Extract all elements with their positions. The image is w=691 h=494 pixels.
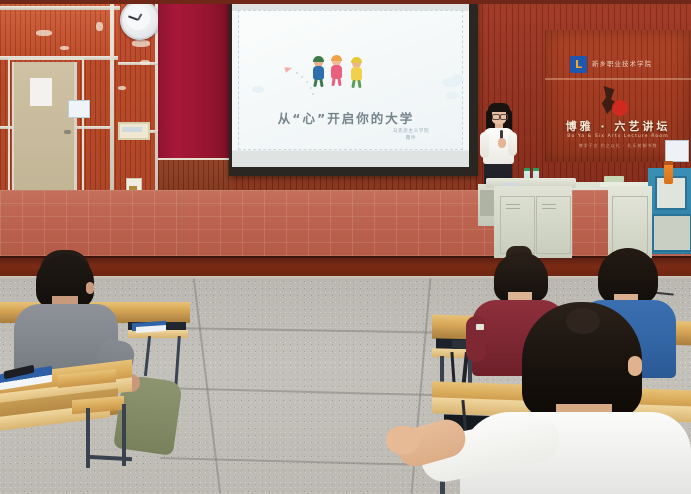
door-sign <box>68 100 90 118</box>
white-cabinet-door[interactable] <box>612 196 648 254</box>
slide-title: 从“心”开启你的大学 <box>246 108 446 127</box>
logo-glyph: L <box>575 59 582 70</box>
equipment-cabinet-lower <box>652 214 691 252</box>
electrical-panel-inner <box>122 127 142 132</box>
red-seal-icon <box>612 100 628 116</box>
student-maroon-arm <box>466 316 486 362</box>
student-left-ear <box>86 282 94 294</box>
stage-tile-pattern <box>0 190 691 262</box>
podium-side-shelf <box>480 190 494 216</box>
podium-vent <box>542 208 556 209</box>
lecture-hall-photo: 从“心”开启你的大学 马克思主义学院 覆件 L 新乡职业技术学院 博雅 · 六艺… <box>0 0 691 494</box>
door-handle[interactable] <box>64 130 71 134</box>
thermos-cap <box>664 161 673 165</box>
ceiling-edge <box>0 0 691 4</box>
presenter-glasses-left <box>492 114 500 120</box>
door-notice-paper <box>30 78 52 106</box>
student-white-hand <box>386 426 420 454</box>
podium-vent <box>542 204 556 205</box>
wall-trim <box>118 62 158 65</box>
podium-vent <box>506 208 520 209</box>
banner-title: 博雅 · 六艺讲坛 <box>552 118 684 134</box>
presenter-glasses-right <box>500 114 508 120</box>
banner-english-title: Bo Ya & Six Arts Lecture Room <box>552 134 684 139</box>
presenter-arm-right <box>508 132 517 156</box>
shirt-logo <box>476 324 484 330</box>
university-logo-icon: L <box>570 56 587 73</box>
podium-vent <box>506 204 520 205</box>
presenter-hand <box>498 138 506 148</box>
crimson-curtain <box>158 0 230 162</box>
wall-trim <box>0 6 120 10</box>
presenter-arm-left <box>480 132 489 158</box>
university-name: 新乡职业技术学院 <box>592 58 676 68</box>
water-bottle-1-cap <box>524 168 530 171</box>
wall-notice-board <box>665 140 689 162</box>
slide-subtitle-line1: 马克思主义学院 <box>378 128 444 134</box>
thermos-flask <box>664 164 673 184</box>
banner-divider <box>545 78 691 80</box>
stage-front-panel <box>0 258 691 278</box>
wall-trim <box>110 0 114 200</box>
student-white-hair-crown <box>566 308 600 334</box>
cabinet-items <box>604 176 624 182</box>
water-bottle-2-cap <box>533 168 539 171</box>
student-white-ear <box>628 356 642 376</box>
slide-subtitle-line2: 覆件 <box>378 135 444 141</box>
